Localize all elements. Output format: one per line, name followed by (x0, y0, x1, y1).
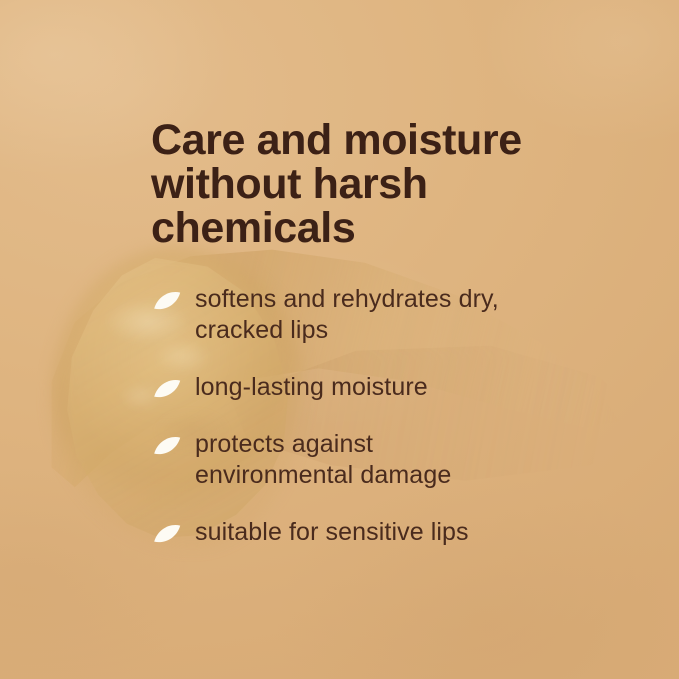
list-item-label: protects against environmental damage (195, 429, 525, 491)
list-item: protects against environmental damage (151, 429, 581, 491)
page-title: Care and moisture without harsh chemical… (151, 118, 551, 250)
product-benefits-graphic: Care and moisture without harsh chemical… (0, 0, 679, 679)
list-item-label: softens and rehydrates dry, cracked lips (195, 284, 525, 346)
list-item: suitable for sensitive lips (151, 517, 581, 548)
list-item: long-lasting moisture (151, 372, 581, 403)
leaf-icon (151, 288, 183, 314)
list-item-label: long-lasting moisture (195, 372, 428, 403)
benefits-list: softens and rehydrates dry, cracked lips… (151, 284, 581, 548)
content-block: Care and moisture without harsh chemical… (151, 118, 581, 548)
list-item-label: suitable for sensitive lips (195, 517, 469, 548)
leaf-icon (151, 433, 183, 459)
list-item: softens and rehydrates dry, cracked lips (151, 284, 581, 346)
leaf-icon (151, 521, 183, 547)
leaf-icon (151, 376, 183, 402)
